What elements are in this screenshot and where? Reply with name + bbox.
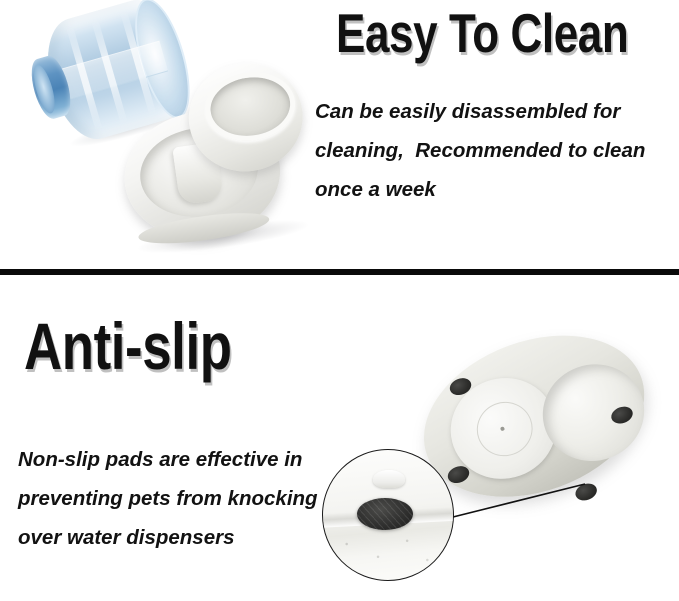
photo-dispenser-parts (4, 2, 316, 252)
anti-slip-pad (573, 481, 599, 504)
heading-easy-to-clean: Easy To Clean (336, 6, 628, 61)
bottle-cap-face (30, 63, 59, 115)
magnifier-surface-nub (373, 470, 405, 488)
base-collar-opening (201, 67, 300, 147)
body-text-anti-slip: Non-slip pads are effective in preventin… (18, 440, 328, 557)
dispenser-base (111, 56, 320, 258)
magnifier-callout-anti-slip-pad (322, 449, 454, 581)
body-text-easy-to-clean: Can be easily disassembled for cleaning,… (315, 92, 679, 209)
heading-anti-slip: Anti-slip (24, 313, 232, 379)
magnified-anti-slip-pad (357, 498, 413, 530)
section-easy-to-clean: Easy To Clean Can be easily disassembled… (0, 0, 679, 270)
section-divider (0, 269, 679, 275)
magnifier-surface-texture (331, 532, 443, 572)
base-underside-cavity (529, 350, 658, 475)
product-infographic: Easy To Clean Can be easily disassembled… (0, 0, 679, 601)
